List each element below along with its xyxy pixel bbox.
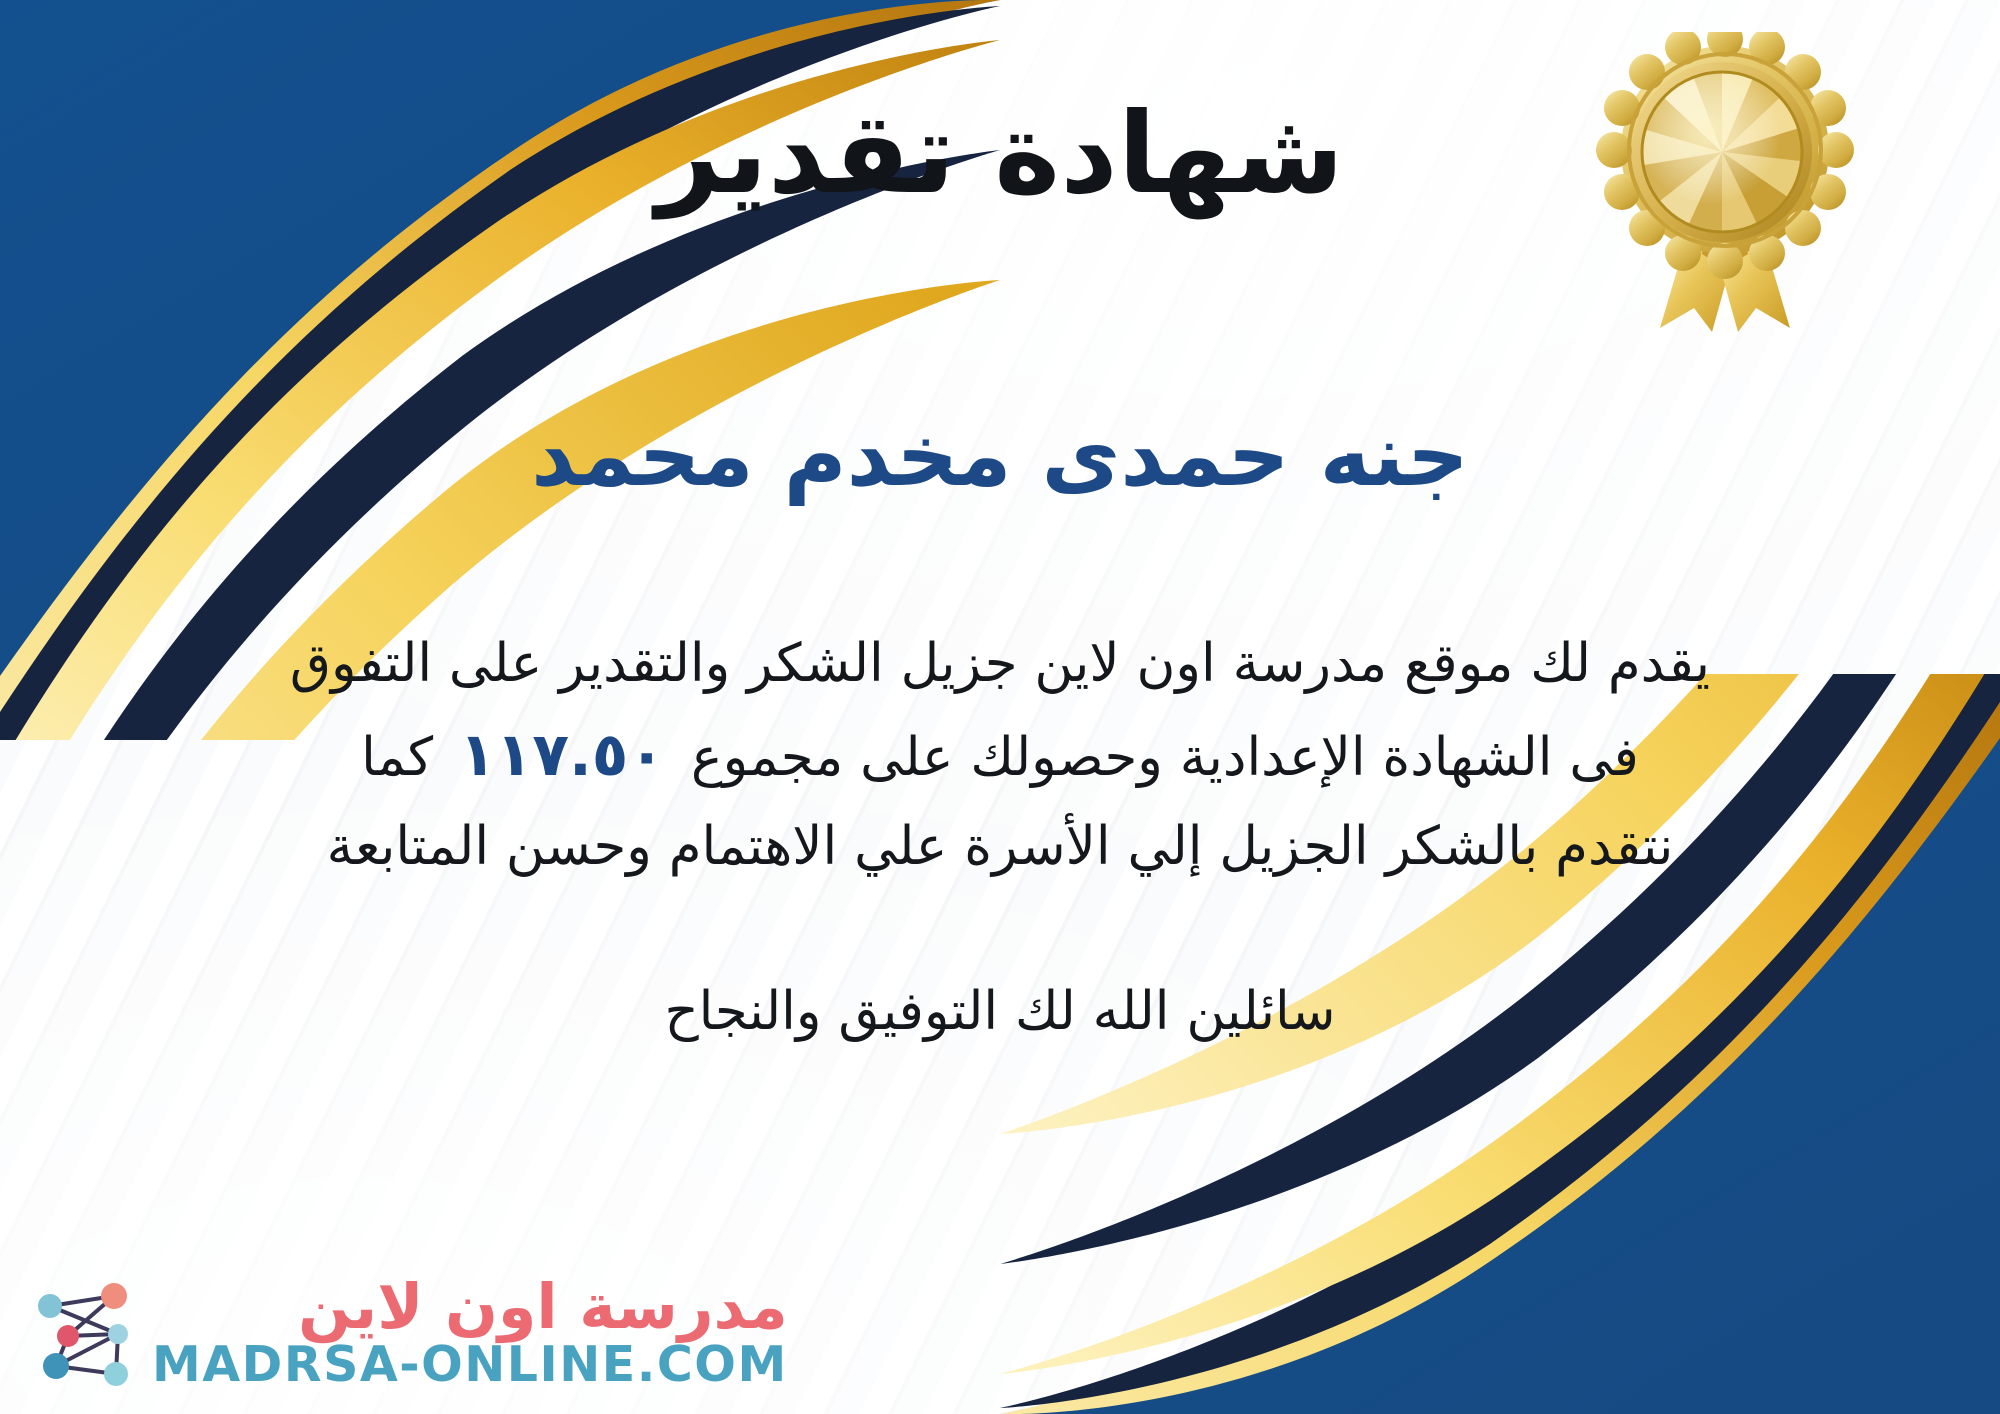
body-line-2-suffix: كما [361, 727, 433, 788]
node-aqua [104, 1362, 128, 1386]
node-light-teal [38, 1294, 62, 1318]
recipient-name: جنه حمدى مخدم محمد [0, 409, 2000, 504]
certificate-canvas: شهادة تقدير جنه حمدى مخدم محمد يقدم لك م… [0, 0, 2000, 1414]
body-line-3: نتقدم بالشكر الجزيل إلي الأسرة علي الاهت… [120, 804, 1880, 890]
closing-wish-line: سائلين الله لك التوفيق والنجاح [120, 972, 1880, 1052]
node-red [57, 1325, 79, 1347]
total-score-value: ١١٧.٥٠ [433, 720, 691, 790]
node-deep-teal [43, 1353, 69, 1379]
certificate-body-text: يقدم لك موقع مدرسة اون لاين جزيل الشكر و… [120, 621, 1880, 890]
site-logo[interactable]: مدرسة اون لاين MADRSA-ONLINE.COM [28, 1274, 788, 1392]
gold-award-medal-icon [1590, 32, 1860, 332]
body-line-1: يقدم لك موقع مدرسة اون لاين جزيل الشكر و… [120, 621, 1880, 707]
body-line-2-prefix: فى الشهادة الإعدادية وحصولك على مجموع [691, 727, 1639, 788]
brand-text-block: مدرسة اون لاين MADRSA-ONLINE.COM [152, 1274, 788, 1392]
node-salmon [101, 1283, 127, 1309]
award-medal [1590, 32, 1860, 332]
brand-website-url[interactable]: MADRSA-ONLINE.COM [152, 1339, 788, 1392]
body-line-2: فى الشهادة الإعدادية وحصولك على مجموع١١٧… [120, 707, 1880, 804]
node-pale-teal [108, 1324, 128, 1344]
brand-arabic-name: مدرسة اون لاين [298, 1274, 788, 1339]
network-nodes-icon [28, 1274, 138, 1392]
